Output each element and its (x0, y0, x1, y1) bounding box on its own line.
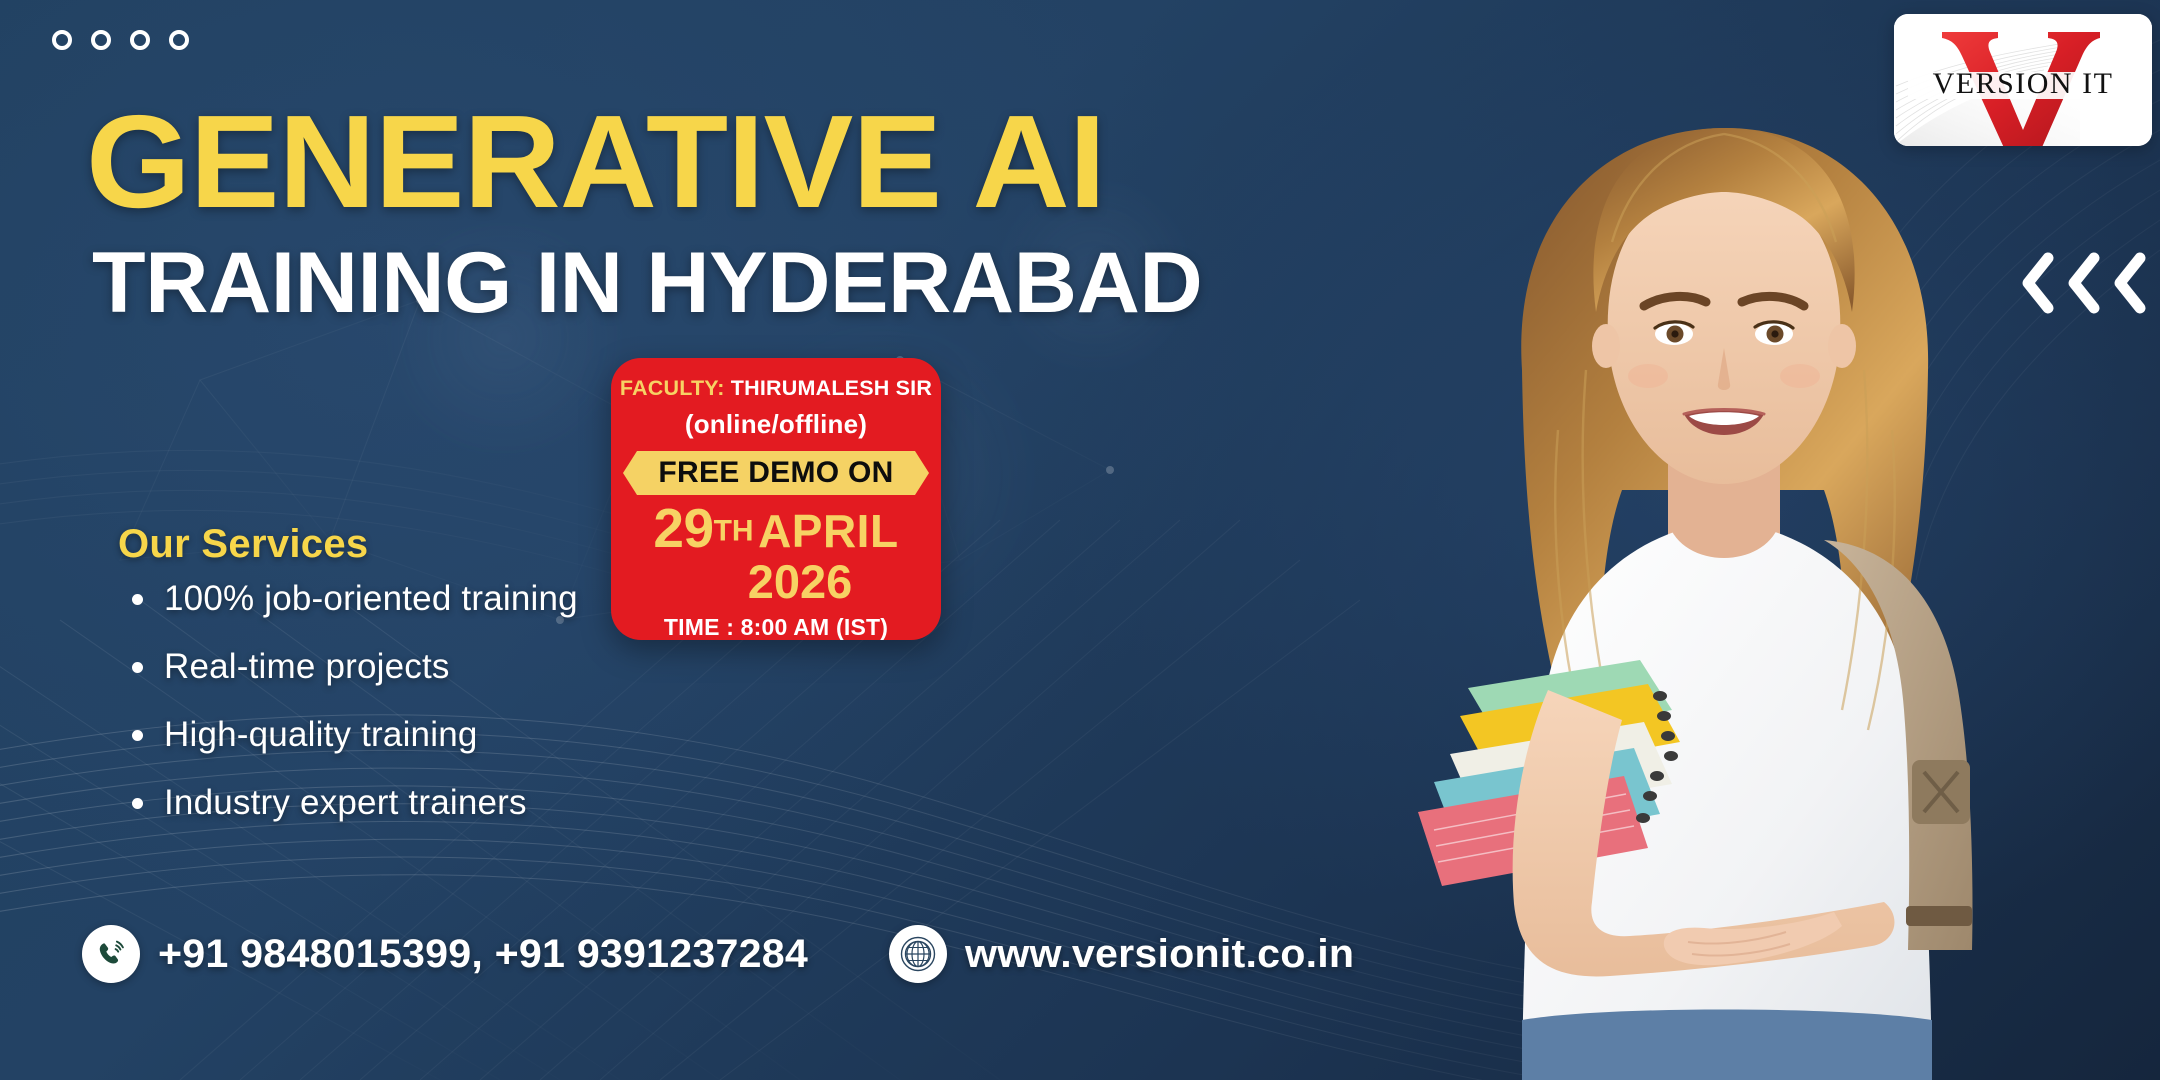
free-demo-card: FACULTY: THIRUMALESH SIR (online/offline… (611, 358, 941, 640)
phone-group[interactable]: +91 9848015399, +91 9391237284 (82, 925, 789, 983)
student-photo (1372, 70, 2072, 1080)
phone-numbers: +91 9848015399, +91 9391237284 (158, 932, 808, 977)
promotional-banner: GENERATIVE AI TRAINING IN HYDERABAD Our … (0, 0, 2160, 1080)
globe-icon (889, 925, 947, 983)
list-item: Industry expert trainers (164, 785, 738, 820)
page-title: GENERATIVE AI (86, 96, 1167, 228)
chevron-left-icon (2108, 248, 2152, 318)
demo-date-month: APRIL (758, 505, 899, 557)
headline-block: GENERATIVE AI TRAINING IN HYDERABAD (86, 96, 1146, 326)
website-url: www.versionit.co.in (965, 932, 1354, 977)
website-group[interactable]: www.versionit.co.in (889, 925, 1343, 983)
circle-outline-icon (91, 30, 111, 50)
page-subtitle: TRAINING IN HYDERABAD (92, 240, 1167, 326)
delivery-mode: (online/offline) (611, 409, 941, 440)
demo-date: 29TH APRIL (611, 502, 941, 556)
circle-outline-icon (130, 30, 150, 50)
free-demo-ribbon: FREE DEMO ON (623, 451, 929, 495)
contact-bar: +91 9848015399, +91 9391237284 www.versi… (82, 925, 1343, 983)
list-item: Real-time projects (164, 649, 738, 684)
demo-date-day: 29 (653, 497, 713, 559)
chevron-group (2016, 248, 2152, 318)
demo-time: TIME : 8:00 AM (IST) (611, 614, 941, 641)
faculty-line: FACULTY: THIRUMALESH SIR (611, 376, 941, 401)
faculty-label: FACULTY: (620, 376, 725, 400)
circle-outline-icon (52, 30, 72, 50)
faculty-name: THIRUMALESH SIR (731, 376, 932, 400)
demo-date-suffix: TH (714, 515, 754, 548)
decorative-dots (52, 30, 189, 50)
company-logo[interactable]: VERSION IT (1894, 14, 2152, 146)
phone-call-icon (82, 925, 140, 983)
demo-date-year: 2026 (659, 558, 941, 605)
free-demo-ribbon-label: FREE DEMO ON (658, 456, 893, 490)
svg-text:VERSION IT: VERSION IT (1933, 67, 2114, 100)
chevron-left-icon (2016, 248, 2060, 318)
circle-outline-icon (169, 30, 189, 50)
list-item: High-quality training (164, 717, 738, 752)
chevron-left-icon (2062, 248, 2106, 318)
